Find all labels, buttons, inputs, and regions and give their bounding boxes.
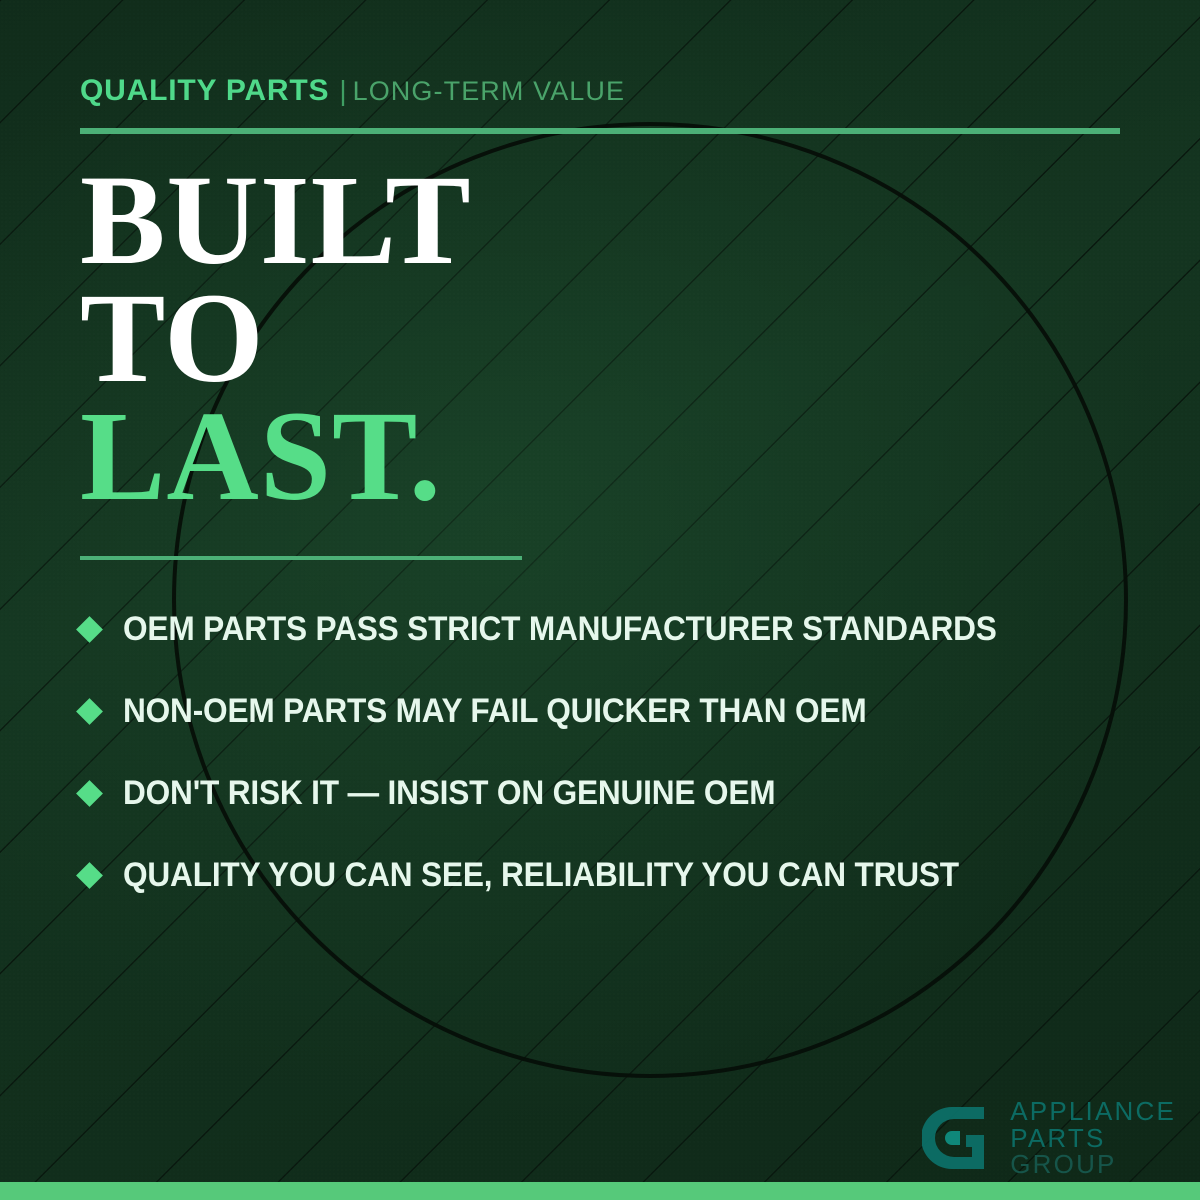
page-title: BUILT TO LAST.: [80, 162, 472, 515]
list-item-label: DON'T RISK IT — INSIST ON GENUINE OEM: [123, 774, 775, 813]
brand-logo: APPLIANCE PARTS GROUP: [922, 1098, 1176, 1178]
eyebrow-sub-text: LONG-TERM VALUE: [353, 76, 626, 106]
eyebrow: QUALITY PARTS|LONG-TERM VALUE: [80, 76, 625, 106]
logo-word-line-1: APPLIANCE: [1010, 1098, 1176, 1125]
logo-word-line-2: PARTS: [1010, 1125, 1176, 1152]
list-item: QUALITY YOU CAN SEE, RELIABILITY YOU CAN…: [80, 834, 1140, 916]
bottom-accent-bar: [0, 1182, 1200, 1200]
list-item-label: QUALITY YOU CAN SEE, RELIABILITY YOU CAN…: [123, 856, 959, 895]
list-item: DON'T RISK IT — INSIST ON GENUINE OEM: [80, 752, 1140, 834]
eyebrow-strong-text: QUALITY PARTS: [80, 74, 329, 107]
headline-divider-rule: [80, 556, 522, 560]
diamond-bullet-icon: [76, 616, 103, 643]
list-item-label: OEM PARTS PASS STRICT MANUFACTURER STAND…: [123, 610, 997, 649]
eyebrow-separator: |: [339, 75, 346, 106]
headline-line-3: LAST.: [80, 398, 472, 516]
g-monogram-icon: [922, 1101, 996, 1175]
list-item: NON-OEM PARTS MAY FAIL QUICKER THAN OEM: [80, 670, 1140, 752]
diamond-bullet-icon: [76, 698, 103, 725]
headline-line-1: BUILT: [80, 162, 472, 280]
logo-word-line-3: GROUP: [1010, 1151, 1176, 1178]
brand-logo-wordmark: APPLIANCE PARTS GROUP: [1010, 1098, 1176, 1178]
header-divider-rule: [80, 128, 1120, 134]
diamond-bullet-icon: [76, 862, 103, 889]
diamond-bullet-icon: [76, 780, 103, 807]
list-item: OEM PARTS PASS STRICT MANUFACTURER STAND…: [80, 588, 1140, 670]
headline-line-2: TO: [80, 280, 472, 398]
poster-canvas: QUALITY PARTS|LONG-TERM VALUE BUILT TO L…: [0, 0, 1200, 1200]
poster-content: QUALITY PARTS|LONG-TERM VALUE BUILT TO L…: [0, 0, 1200, 1200]
benefit-list: OEM PARTS PASS STRICT MANUFACTURER STAND…: [80, 588, 1140, 916]
list-item-label: NON-OEM PARTS MAY FAIL QUICKER THAN OEM: [123, 692, 866, 731]
